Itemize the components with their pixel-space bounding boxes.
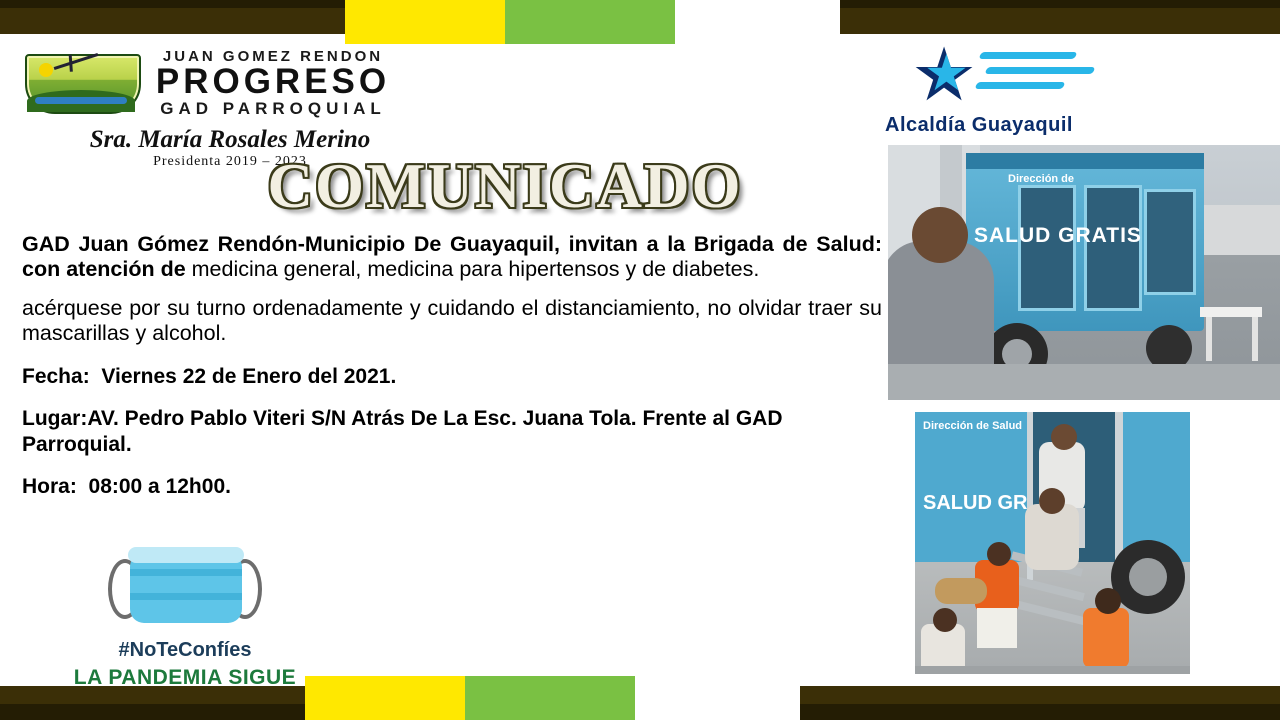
lugar-row: Lugar:AV. Pedro Pablo Viteri S/N Atrás D… — [22, 406, 882, 458]
ribbon-green-top — [505, 0, 675, 44]
photo-people-boarding-clinic: Dirección de Salud SALUD GRATIS — [915, 412, 1190, 674]
photo-mobile-clinic-truck: Dirección de SALUD GRATIS — [888, 145, 1280, 400]
photo1-caption-1: Dirección de — [1008, 173, 1074, 185]
ribbon-white-top — [675, 0, 840, 44]
ribbon-yellow-bottom — [305, 676, 465, 720]
page-title: COMUNICADO — [225, 150, 785, 223]
lugar-label: Lugar: — [22, 407, 87, 430]
face-mask-icon — [110, 545, 260, 631]
fecha-row: Fecha: Viernes 22 de Enero del 2021. — [22, 364, 882, 390]
lugar-value: AV. Pedro Pablo Viteri S/N Atrás De La E… — [22, 407, 783, 456]
hora-label: Hora: — [22, 475, 77, 498]
gad-coat-of-arms-icon — [25, 54, 141, 114]
ribbon-white-bottom — [635, 676, 800, 720]
photo2-caption-1: Dirección de Salud — [923, 420, 1022, 433]
swoosh-icon-3 — [975, 82, 1066, 89]
gad-line2: PROGRESO — [106, 65, 440, 99]
ribbon-green-bottom — [465, 676, 635, 720]
paragraph-1: GAD Juan Gómez Rendón-Municipio De Guaya… — [22, 232, 882, 282]
swoosh-icon-1 — [979, 52, 1078, 59]
campaign-hashtag: #NoTeConfíes — [70, 639, 300, 662]
paragraph-1-rest: medicina general, medicina para hiperten… — [186, 257, 760, 281]
alcaldia-guayaquil-logo: ★ ★ Alcaldía Guayaquil — [880, 42, 1130, 142]
star-inner-icon: ★ — [924, 51, 969, 95]
fecha-label: Fecha: — [22, 365, 90, 388]
swoosh-icon-2 — [985, 67, 1096, 74]
announcement-body: GAD Juan Gómez Rendón-Municipio De Guaya… — [22, 232, 882, 516]
campaign-block: #NoTeConfíes LA PANDEMIA SIGUE — [70, 545, 300, 690]
hora-row: Hora: 08:00 a 12h00. — [22, 474, 882, 500]
fecha-value: Viernes 22 de Enero del 2021. — [101, 365, 396, 388]
alcaldia-label: Alcaldía Guayaquil — [885, 114, 1073, 137]
paragraph-2: acérquese por su turno ordenadamente y c… — [22, 296, 882, 346]
photo1-caption-2: SALUD GRATIS — [974, 225, 1142, 247]
ribbon-yellow-top — [345, 0, 505, 44]
gad-line3: GAD PARROQUIAL — [106, 99, 440, 119]
hora-value: 08:00 a 12h00. — [89, 475, 231, 498]
